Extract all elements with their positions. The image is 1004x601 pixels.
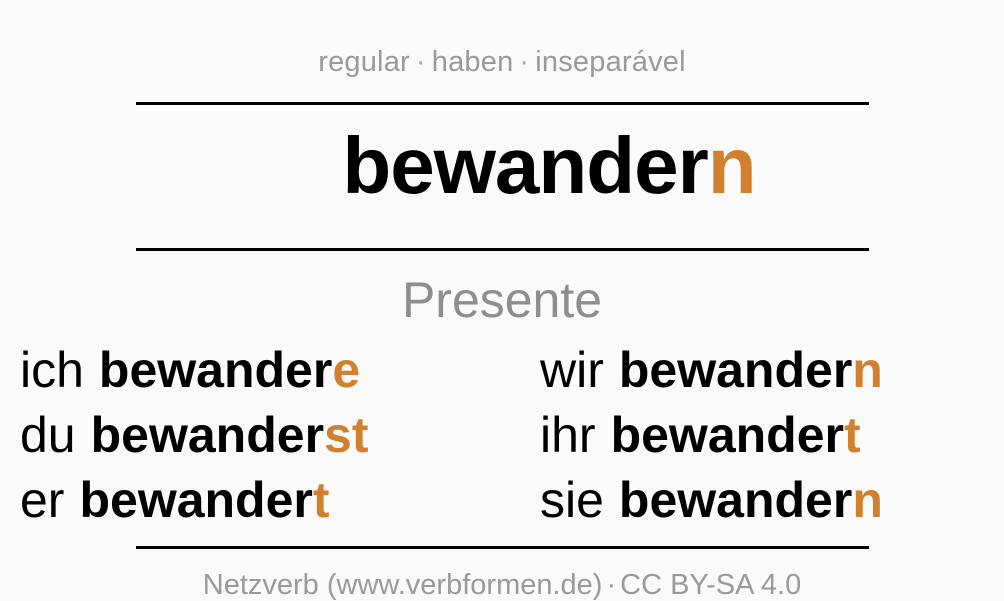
pronoun-sie: sie	[540, 475, 604, 525]
conjugation-row-er: erbewandert	[20, 467, 540, 532]
form-stem-wir: bewander	[619, 345, 852, 395]
verb-title-row: bewandern	[0, 105, 1004, 226]
pronoun-du: du	[20, 410, 76, 460]
conjugation-table: ichbewandere wirbewandern dubewanderst i…	[0, 331, 1004, 532]
pronoun-er: er	[20, 475, 64, 525]
form-suffix-ich: e	[332, 345, 360, 395]
form-stem-sie: bewander	[619, 475, 852, 525]
conjugation-row-wir: wirbewandern	[540, 337, 1004, 402]
german-flag-icon	[248, 137, 306, 195]
form-stem-du: bewander	[91, 410, 324, 460]
form-suffix-du: st	[324, 410, 368, 460]
pronoun-wir: wir	[540, 345, 604, 395]
footer-source: Netzverb (www.verbformen.de)	[203, 569, 603, 601]
attribute-separability: inseparável	[535, 46, 686, 78]
pronoun-ihr: ihr	[540, 410, 596, 460]
tense-heading: Presente	[0, 251, 1004, 331]
conjugation-row-sie: siebewandern	[540, 467, 1004, 532]
verb-ending: n	[708, 121, 756, 210]
form-stem-ihr: bewander	[611, 410, 844, 460]
attribute-separator-1: ·	[410, 46, 432, 78]
footer-license: CC BY-SA 4.0	[620, 569, 801, 601]
pronoun-ich: ich	[20, 345, 84, 395]
attribute-separator-2: ·	[513, 46, 535, 78]
page-title: bewandern	[342, 126, 755, 206]
conjugation-row-ihr: ihrbewandert	[540, 402, 1004, 467]
verb-conjugation-card: regular·haben·inseparável bewandern Pres…	[0, 0, 1004, 600]
form-suffix-wir: n	[852, 345, 883, 395]
verb-stem: bewander	[342, 121, 707, 210]
footer-attribution: Netzverb (www.verbformen.de)·CC BY-SA 4.…	[0, 549, 1004, 600]
form-suffix-er: t	[313, 475, 330, 525]
footer-separator: ·	[602, 569, 620, 601]
conjugation-row-ich: ichbewandere	[20, 337, 540, 402]
form-suffix-ihr: t	[844, 410, 861, 460]
form-stem-er: bewander	[79, 475, 312, 525]
attribute-auxiliary: haben	[432, 46, 514, 78]
conjugation-row-du: dubewanderst	[20, 402, 540, 467]
form-stem-ich: bewander	[99, 345, 332, 395]
attribute-regularity: regular	[318, 46, 410, 78]
verb-attributes: regular·haben·inseparável	[0, 0, 1004, 77]
form-suffix-sie: n	[852, 475, 883, 525]
